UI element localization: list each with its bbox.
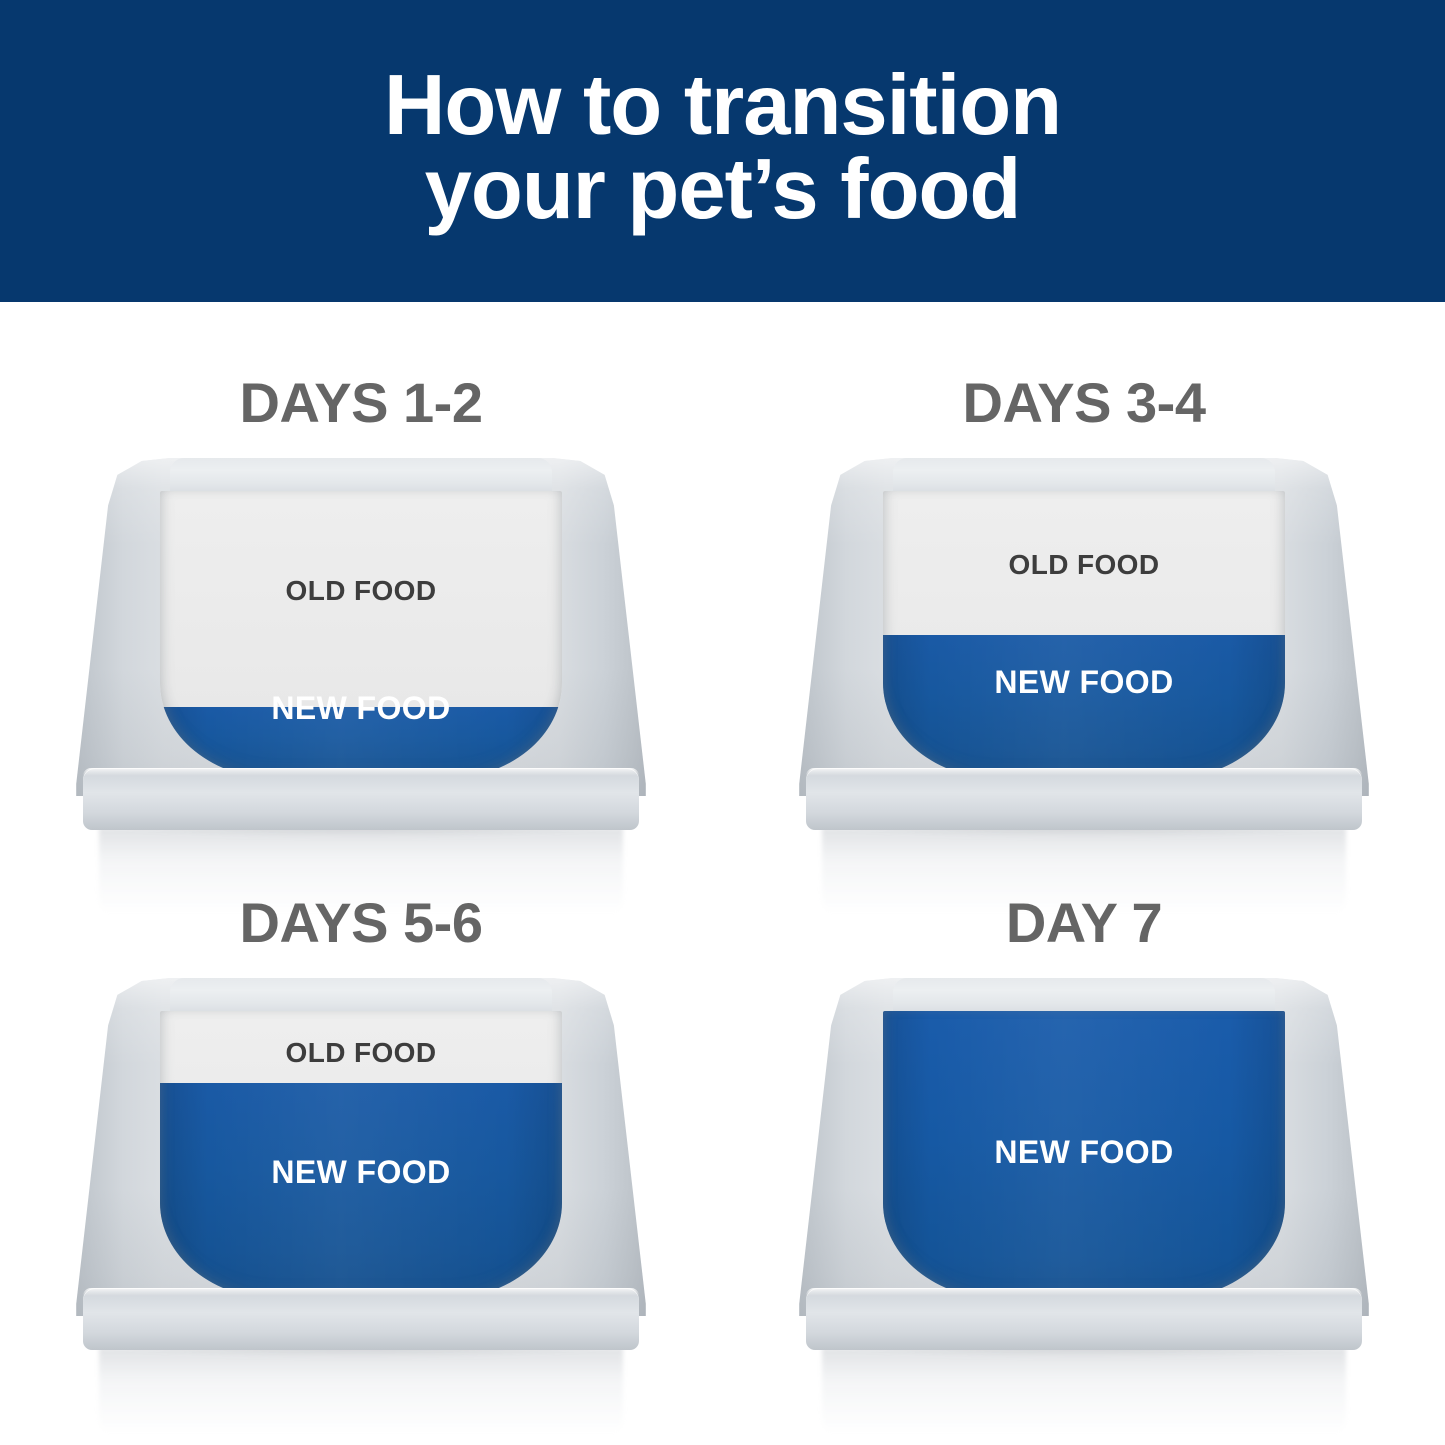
new-food-label-1: NEW FOOD (160, 690, 562, 727)
bowl-base-highlight (806, 768, 1362, 776)
new-food-label-3: NEW FOOD (160, 1154, 562, 1191)
step-panel-3: DAYS 5-6 OLD FOOD NEW FOOD (0, 890, 722, 1445)
food-bowl-2: OLD FOOD NEW FOOD (794, 458, 1374, 858)
food-bowl-3: OLD FOOD NEW FOOD (71, 978, 651, 1378)
bowl-cavity-4: NEW FOOD (883, 1011, 1285, 1299)
food-bowl-4: NEW FOOD (794, 978, 1374, 1378)
page-title: How to transition your pet’s food (384, 64, 1061, 238)
bowl-rim (893, 458, 1276, 494)
bowl-base (806, 1288, 1362, 1350)
step-title-3: DAYS 5-6 (0, 890, 722, 955)
bowl-base-highlight (806, 1288, 1362, 1296)
bowl-base (806, 768, 1362, 830)
new-food-label-4: NEW FOOD (883, 1134, 1285, 1171)
step-panel-4: DAY 7 NEW FOOD (723, 890, 1445, 1445)
bowl-cavity-3: OLD FOOD NEW FOOD (160, 1011, 562, 1299)
step-title-2: DAYS 3-4 (723, 370, 1445, 435)
food-bowl-1: OLD FOOD NEW FOOD (71, 458, 651, 858)
new-food-label-2: NEW FOOD (883, 664, 1285, 701)
bowl-reflection (822, 1348, 1346, 1434)
step-panel-2: DAYS 3-4 OLD FOOD NEW FOOD (723, 370, 1445, 940)
bowl-cavity-2: OLD FOOD NEW FOOD (883, 491, 1285, 779)
bowl-reflection (99, 1348, 623, 1434)
step-panel-1: DAYS 1-2 OLD FOOD NEW FOOD (0, 370, 722, 940)
bowl-base-highlight (83, 768, 639, 776)
old-food-label-1: OLD FOOD (160, 575, 562, 607)
old-food-label-3: OLD FOOD (160, 1037, 562, 1069)
bowl-base-highlight (83, 1288, 639, 1296)
step-title-1: DAYS 1-2 (0, 370, 722, 435)
bowl-base (83, 1288, 639, 1350)
bowl-rim (170, 458, 553, 494)
header-band: How to transition your pet’s food (0, 0, 1445, 302)
bowl-rim (170, 978, 553, 1014)
bowl-rim (893, 978, 1276, 1014)
bowl-base (83, 768, 639, 830)
steps-grid: DAYS 1-2 OLD FOOD NEW FOOD (0, 302, 1445, 1445)
old-food-label-2: OLD FOOD (883, 549, 1285, 581)
bowl-cavity-1: OLD FOOD NEW FOOD (160, 491, 562, 779)
new-food-layer-2 (883, 635, 1285, 779)
step-title-4: DAY 7 (723, 890, 1445, 955)
infographic-page: How to transition your pet’s food DAYS 1… (0, 0, 1445, 1445)
new-food-layer-3 (160, 1083, 562, 1299)
